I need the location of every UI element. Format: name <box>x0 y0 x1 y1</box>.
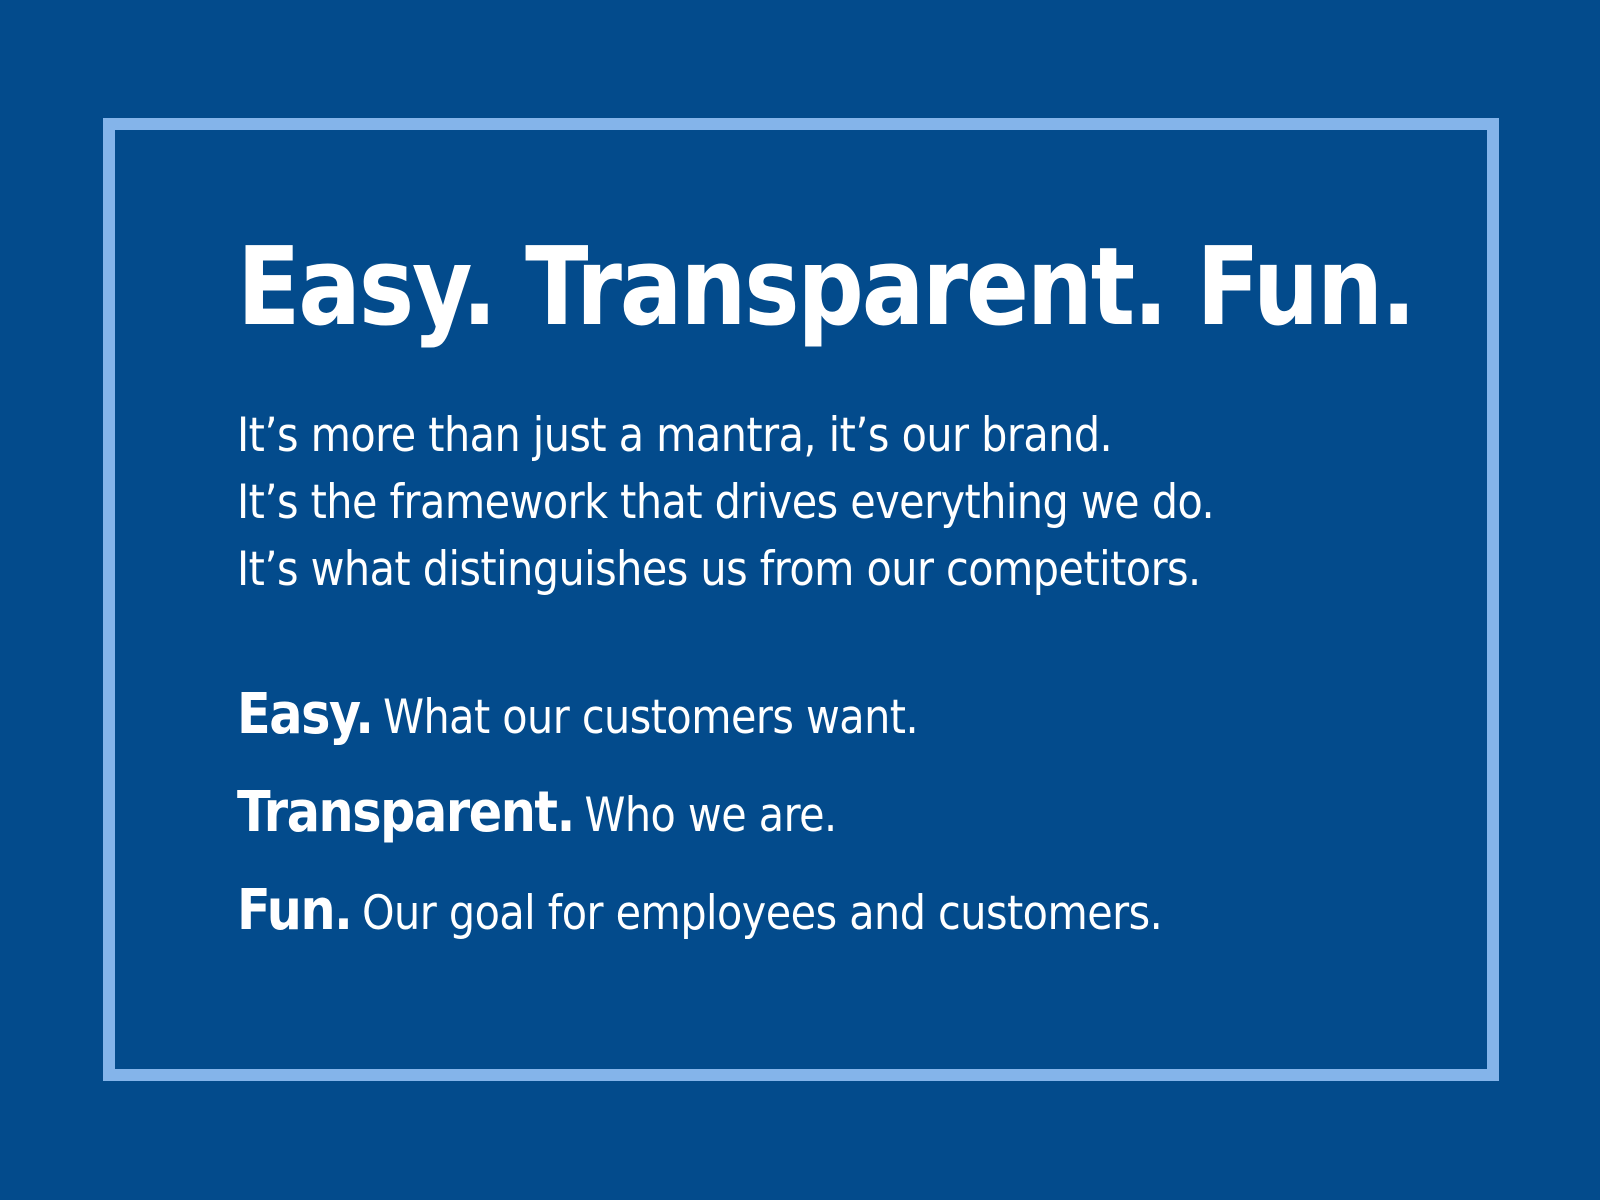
pillar-item-easy: Easy.What our customers want. <box>237 675 1293 773</box>
pillar-description-transparent: Who we are. <box>574 788 837 843</box>
pillar-list: Easy.What our customers want. Transparen… <box>237 675 1437 969</box>
pillar-term-fun: Fun. <box>237 878 351 943</box>
intro-paragraph: It’s more than just a mantra, it’s our b… <box>237 402 1437 603</box>
pillar-description-fun: Our goal for employees and customers. <box>351 886 1162 941</box>
pillar-term-easy: Easy. <box>237 682 373 747</box>
pillar-term-transparent: Transparent. <box>237 780 574 845</box>
page-title: Easy. Transparent. Fun. <box>237 236 1269 340</box>
pillar-item-transparent: Transparent.Who we are. <box>237 773 1293 871</box>
pillar-description-easy: What our customers want. <box>373 690 919 745</box>
slide-content: Easy. Transparent. Fun. It’s more than j… <box>237 236 1437 969</box>
pillar-item-fun: Fun.Our goal for employees and customers… <box>237 871 1293 969</box>
intro-line-2: It’s the framework that drives everythin… <box>237 469 1293 536</box>
brand-mantra-slide: Easy. Transparent. Fun. It’s more than j… <box>0 0 1600 1200</box>
intro-line-1: It’s more than just a mantra, it’s our b… <box>237 402 1293 469</box>
intro-line-3: It’s what distinguishes us from our comp… <box>237 536 1293 603</box>
